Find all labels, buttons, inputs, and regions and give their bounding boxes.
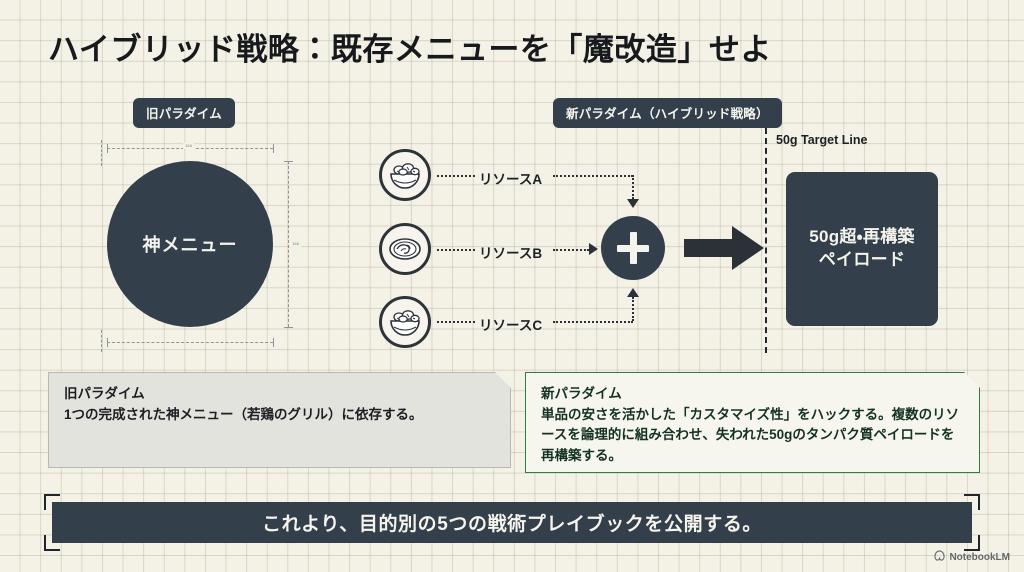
connector-a-left (437, 175, 475, 177)
connector-a-right (553, 175, 633, 177)
connector-c-right (553, 321, 633, 323)
connector-a-down (632, 175, 634, 199)
dimension-tick-bottom-right (273, 338, 274, 347)
flow-arrow-icon (684, 226, 764, 270)
resource-label-b: リソースB (479, 242, 542, 262)
dimension-tick-right-top (284, 161, 293, 162)
payload-box: 50g超・再構築 ペイロード (786, 172, 938, 326)
dimension-tick-right-bottom (284, 327, 293, 328)
note-old-body: 1つの完成された神メニュー（若鶏のグリル）に依存する。 (64, 405, 495, 426)
dimension-line-left-lower (101, 330, 102, 352)
target-line-label: 50g Target Line (776, 133, 867, 147)
connector-b-arrowhead (589, 243, 598, 255)
dimension-line-bottom (107, 342, 273, 343)
payload-line-1: 50g超・再構築 (809, 226, 914, 249)
bottom-banner: これより、目的別の5つの戦術プレイブックを公開する。 (52, 502, 972, 543)
connector-b-right (553, 249, 589, 251)
dimension-line-right (288, 161, 289, 327)
resource-label-a: リソースA (479, 168, 542, 188)
bottom-banner-text: これより、目的別の5つの戦術プレイブックを公開する。 (262, 509, 762, 536)
connector-c-arrowhead (627, 288, 639, 297)
payload-line-2: ペイロード (819, 249, 906, 272)
dimension-tick-top-left (107, 144, 108, 153)
god-menu-circle: 神メニュー (107, 161, 273, 327)
resource-label-c: リソースC (479, 314, 542, 334)
note-new-paradigm: 新パラダイム 単品の安さを活かした「カスタマイズ性」をハックする。複数のリソース… (525, 372, 980, 473)
notebooklm-logo-icon (934, 550, 945, 564)
slide-canvas: ハイブリッド戦略：既存メニューを「魔改造」せよ 旧パラダイム 新パラダイム（ハイ… (0, 0, 1024, 572)
notebooklm-label: NotebookLM (949, 552, 1010, 563)
badge-old-paradigm: 旧パラダイム (133, 98, 235, 128)
god-menu-label: 神メニュー (143, 231, 238, 257)
connector-c-left (437, 321, 475, 323)
dimension-line-left (101, 140, 102, 166)
badge-new-paradigm: 新パラダイム（ハイブリッド戦略） (553, 98, 782, 128)
note-new-body: 単品の安さを活かした「カスタマイズ性」をハックする。複数のリソースを論理的に組み… (541, 405, 964, 467)
note-new-title: 新パラダイム (541, 384, 964, 405)
plus-junction-node (601, 216, 665, 280)
salad-bowl-icon (388, 307, 422, 337)
connector-b-left (437, 249, 475, 251)
connector-c-up (632, 297, 634, 321)
dimension-label-top: 166 (183, 143, 194, 149)
dimension-tick-top-right (273, 144, 274, 153)
dimension-label-right: 166 (290, 241, 301, 247)
noodle-bowl-icon (388, 235, 422, 263)
dimension-tick-bottom-left (107, 338, 108, 347)
resource-icon-c (379, 296, 431, 348)
target-line-divider (765, 128, 767, 353)
notebooklm-watermark: NotebookLM (934, 550, 1010, 564)
resource-icon-a (379, 149, 431, 201)
resource-icon-b (379, 223, 431, 275)
connector-a-arrowhead (627, 199, 639, 208)
page-title: ハイブリッド戦略：既存メニューを「魔改造」せよ (48, 24, 772, 69)
salad-bowl-icon (388, 160, 422, 190)
note-old-title: 旧パラダイム (64, 384, 495, 405)
note-old-paradigm: 旧パラダイム 1つの完成された神メニュー（若鶏のグリル）に依存する。 (48, 372, 511, 468)
